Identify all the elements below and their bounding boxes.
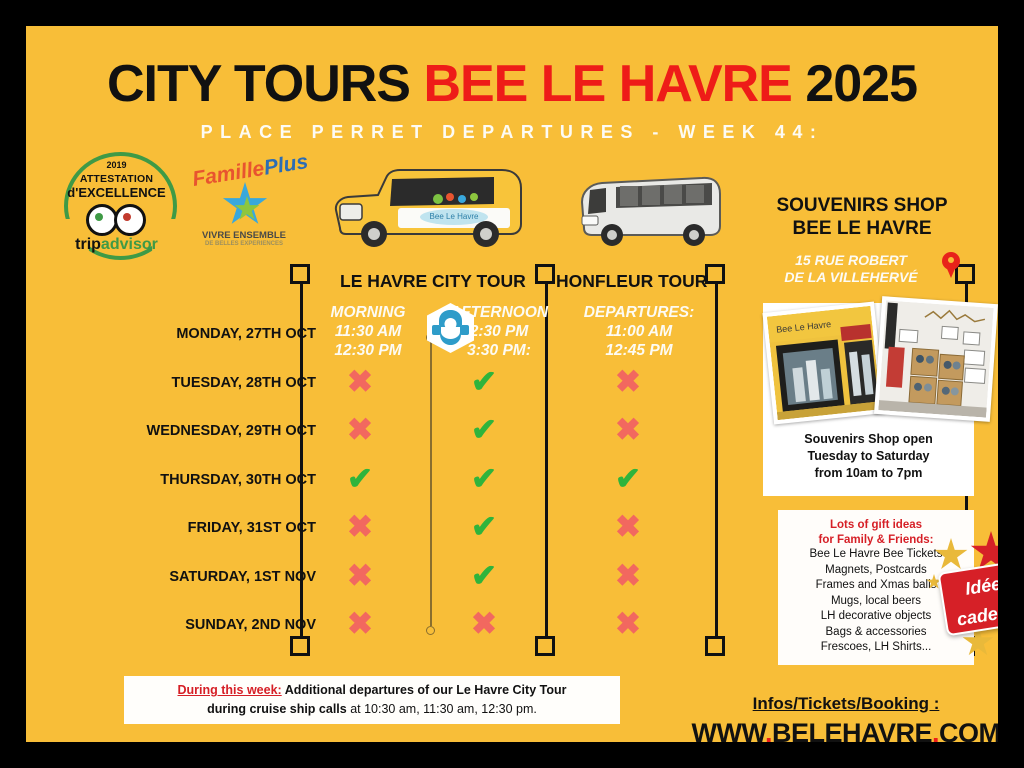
gift-idea-badge: Idée cadeau <box>938 560 998 637</box>
souvenirs-shop-title: SOUVENIRS SHOP BEE LE HAVRE <box>726 194 998 240</box>
title-part2: 2025 <box>792 55 917 113</box>
schedule-mark-afternoon: ✔ <box>462 414 506 445</box>
page-subtitle: PLACE PERRET DEPARTURES - WEEK 44: <box>26 122 998 143</box>
column-time: 12:30 PM <box>334 342 401 359</box>
tripadvisor-brand: tripadvisor <box>64 236 169 254</box>
familleplus-tagline2: DE BELLES EXPERIENCES <box>194 241 294 247</box>
schedule-day-label: TUESDAY, 28TH OCT <box>66 375 316 391</box>
schedule-mark-morning: ✖ <box>338 511 382 542</box>
page-title: CITY TOURS BEE LE HAVRE 2025 <box>26 54 998 114</box>
schedule-day-label: THURSDAY, 30TH OCT <box>66 472 316 488</box>
familleplus-logo: FamillePlus VIVRE ENSEMBLE DE BELLES EXP… <box>194 156 294 256</box>
gift-item: Frescoes, LH Shirts... <box>778 640 974 656</box>
column-label: MORNING <box>331 304 406 321</box>
schedule-mark-afternoon: ✔ <box>462 560 506 591</box>
post-cap-top <box>705 264 725 284</box>
schedule-mark-afternoon: ✔ <box>462 366 506 397</box>
souvenirs-opening-hours: Souvenirs Shop open Tuesday to Saturday … <box>763 431 974 482</box>
post-cap-top <box>290 264 310 284</box>
column-header-departures: DEPARTURES: 11:00 AM 12:45 PM <box>571 303 707 360</box>
souvenirs-title-line2: BEE LE HAVRE <box>792 218 931 239</box>
weekly-notice-box: During this week: Additional departures … <box>124 676 620 724</box>
url-dot1: . <box>765 718 772 742</box>
notice-rest: at 10:30 am, 11:30 am, 12:30 pm. <box>347 702 537 716</box>
schedule-mark-honfleur: ✖ <box>606 608 650 639</box>
divider-post-honfleur-right <box>715 284 718 636</box>
column-time: 12:45 PM <box>605 342 672 359</box>
owl-icon <box>86 202 146 232</box>
souvenirs-title-line1: SOUVENIRS SHOP <box>776 195 947 216</box>
column-time: 11:00 AM <box>606 323 672 340</box>
tour-title-honfleur: HONFLEUR TOUR <box>556 271 707 292</box>
url-part2: BELEHAVRE <box>772 718 932 742</box>
post-cap-bottom <box>705 636 725 656</box>
booking-label: Infos/Tickets/Booking : <box>666 694 998 714</box>
schedule-mark-morning: ✖ <box>338 414 382 445</box>
poster-canvas: CITY TOURS BEE LE HAVRE 2025 PLACE PERRE… <box>26 26 998 742</box>
post-cap-bottom <box>535 636 555 656</box>
familleplus-tagline1: VIVRE ENSEMBLE <box>194 230 294 241</box>
gift-ideas-heading: Lots of gift ideas for Family & Friends: <box>778 510 974 547</box>
url-part1: WWW <box>691 718 764 742</box>
schedule-mark-honfleur: ✖ <box>606 560 650 591</box>
divider-thin-middle <box>430 342 432 626</box>
title-highlight: BEE LE HAVRE <box>423 55 791 113</box>
address-line2: DE LA VILLEHERVÉ <box>784 269 917 285</box>
schedule-mark-afternoon: ✖ <box>462 608 506 639</box>
tripadvisor-logo: 2019 ATTESTATION d'EXCELLENCE tripadviso… <box>64 148 169 258</box>
tripadvisor-line1: ATTESTATION <box>64 173 169 185</box>
url-dot2: . <box>932 718 939 742</box>
shopfront-photo: Bee Le Havre <box>762 301 885 424</box>
schedule-mark-honfleur: ✖ <box>606 511 650 542</box>
svg-text:Bee Le Havre: Bee Le Havre <box>430 212 479 221</box>
schedule-day-label: WEDNESDAY, 29TH OCT <box>66 423 316 439</box>
white-coach-icon <box>576 172 726 250</box>
notice-bold2: during cruise ship calls <box>207 702 347 716</box>
schedule-mark-morning: ✖ <box>338 366 382 397</box>
address-line1: 15 RUE ROBERT <box>795 252 907 268</box>
gift-heading-line1: Lots of gift ideas <box>830 519 922 531</box>
gift-heading-line2: for Family & Friends: <box>818 534 933 546</box>
website-url[interactable]: WWW.BELEHAVRE.COM <box>666 718 998 742</box>
schedule-mark-afternoon: ✔ <box>462 511 506 542</box>
tripadvisor-brand-part1: trip <box>75 236 101 253</box>
column-header-morning: MORNING 11:30 AM 12:30 PM <box>320 303 416 360</box>
schedule-mark-honfleur: ✖ <box>606 366 650 397</box>
schedule-day-label: MONDAY, 27TH OCT <box>66 326 316 342</box>
hours-line1: Souvenirs Shop open <box>804 432 933 446</box>
map-pin-icon <box>942 252 960 278</box>
schedule-mark-morning: ✖ <box>338 608 382 639</box>
schedule-mark-honfleur: ✔ <box>606 463 650 494</box>
column-time: 3:30 PM: <box>467 342 531 359</box>
hours-line3: from 10am to 7pm <box>815 466 923 480</box>
notice-bold1: Additional departures of our Le Havre Ci… <box>282 683 567 697</box>
hours-line2: Tuesday to Saturday <box>807 449 929 463</box>
gift-item: Bags & accessories <box>778 625 974 641</box>
post-cap-top <box>535 264 555 284</box>
schedule-day-label: SATURDAY, 1ST NOV <box>66 569 316 585</box>
title-part1: CITY TOURS <box>107 55 423 113</box>
shop-interior-photo <box>874 296 998 422</box>
schedule-mark-afternoon: ✔ <box>462 463 506 494</box>
weekly-notice-text: During this week: Additional departures … <box>178 681 567 719</box>
yellow-minibus-icon: Bee Le Havre <box>326 164 536 254</box>
schedule-mark-morning: ✖ <box>338 560 382 591</box>
schedule-day-label: FRIDAY, 31ST OCT <box>66 520 316 536</box>
url-part3: COM <box>939 718 998 742</box>
familleplus-word1: Famille <box>191 157 266 191</box>
schedule-day-label: SUNDAY, 2ND NOV <box>66 617 316 633</box>
column-time: 11:30 AM <box>335 323 401 340</box>
schedule-mark-morning: ✔ <box>338 463 382 494</box>
tripadvisor-brand-part2: advisor <box>101 236 158 253</box>
tripadvisor-year: 2019 <box>64 160 169 170</box>
thin-divider-dot-bottom <box>426 626 435 635</box>
souvenirs-shop-address: 15 RUE ROBERT DE LA VILLEHERVÉ <box>726 252 976 286</box>
tripadvisor-line2: d'EXCELLENCE <box>64 185 169 200</box>
post-cap-bottom <box>290 636 310 656</box>
column-time: 2:30 PM <box>470 323 529 340</box>
column-label: DEPARTURES: <box>584 304 695 321</box>
familleplus-word2: Plus <box>262 150 309 180</box>
tour-title-le-havre: LE HAVRE CITY TOUR <box>340 271 526 292</box>
schedule-mark-honfleur: ✖ <box>606 414 650 445</box>
notice-lead: During this week: <box>178 683 282 697</box>
